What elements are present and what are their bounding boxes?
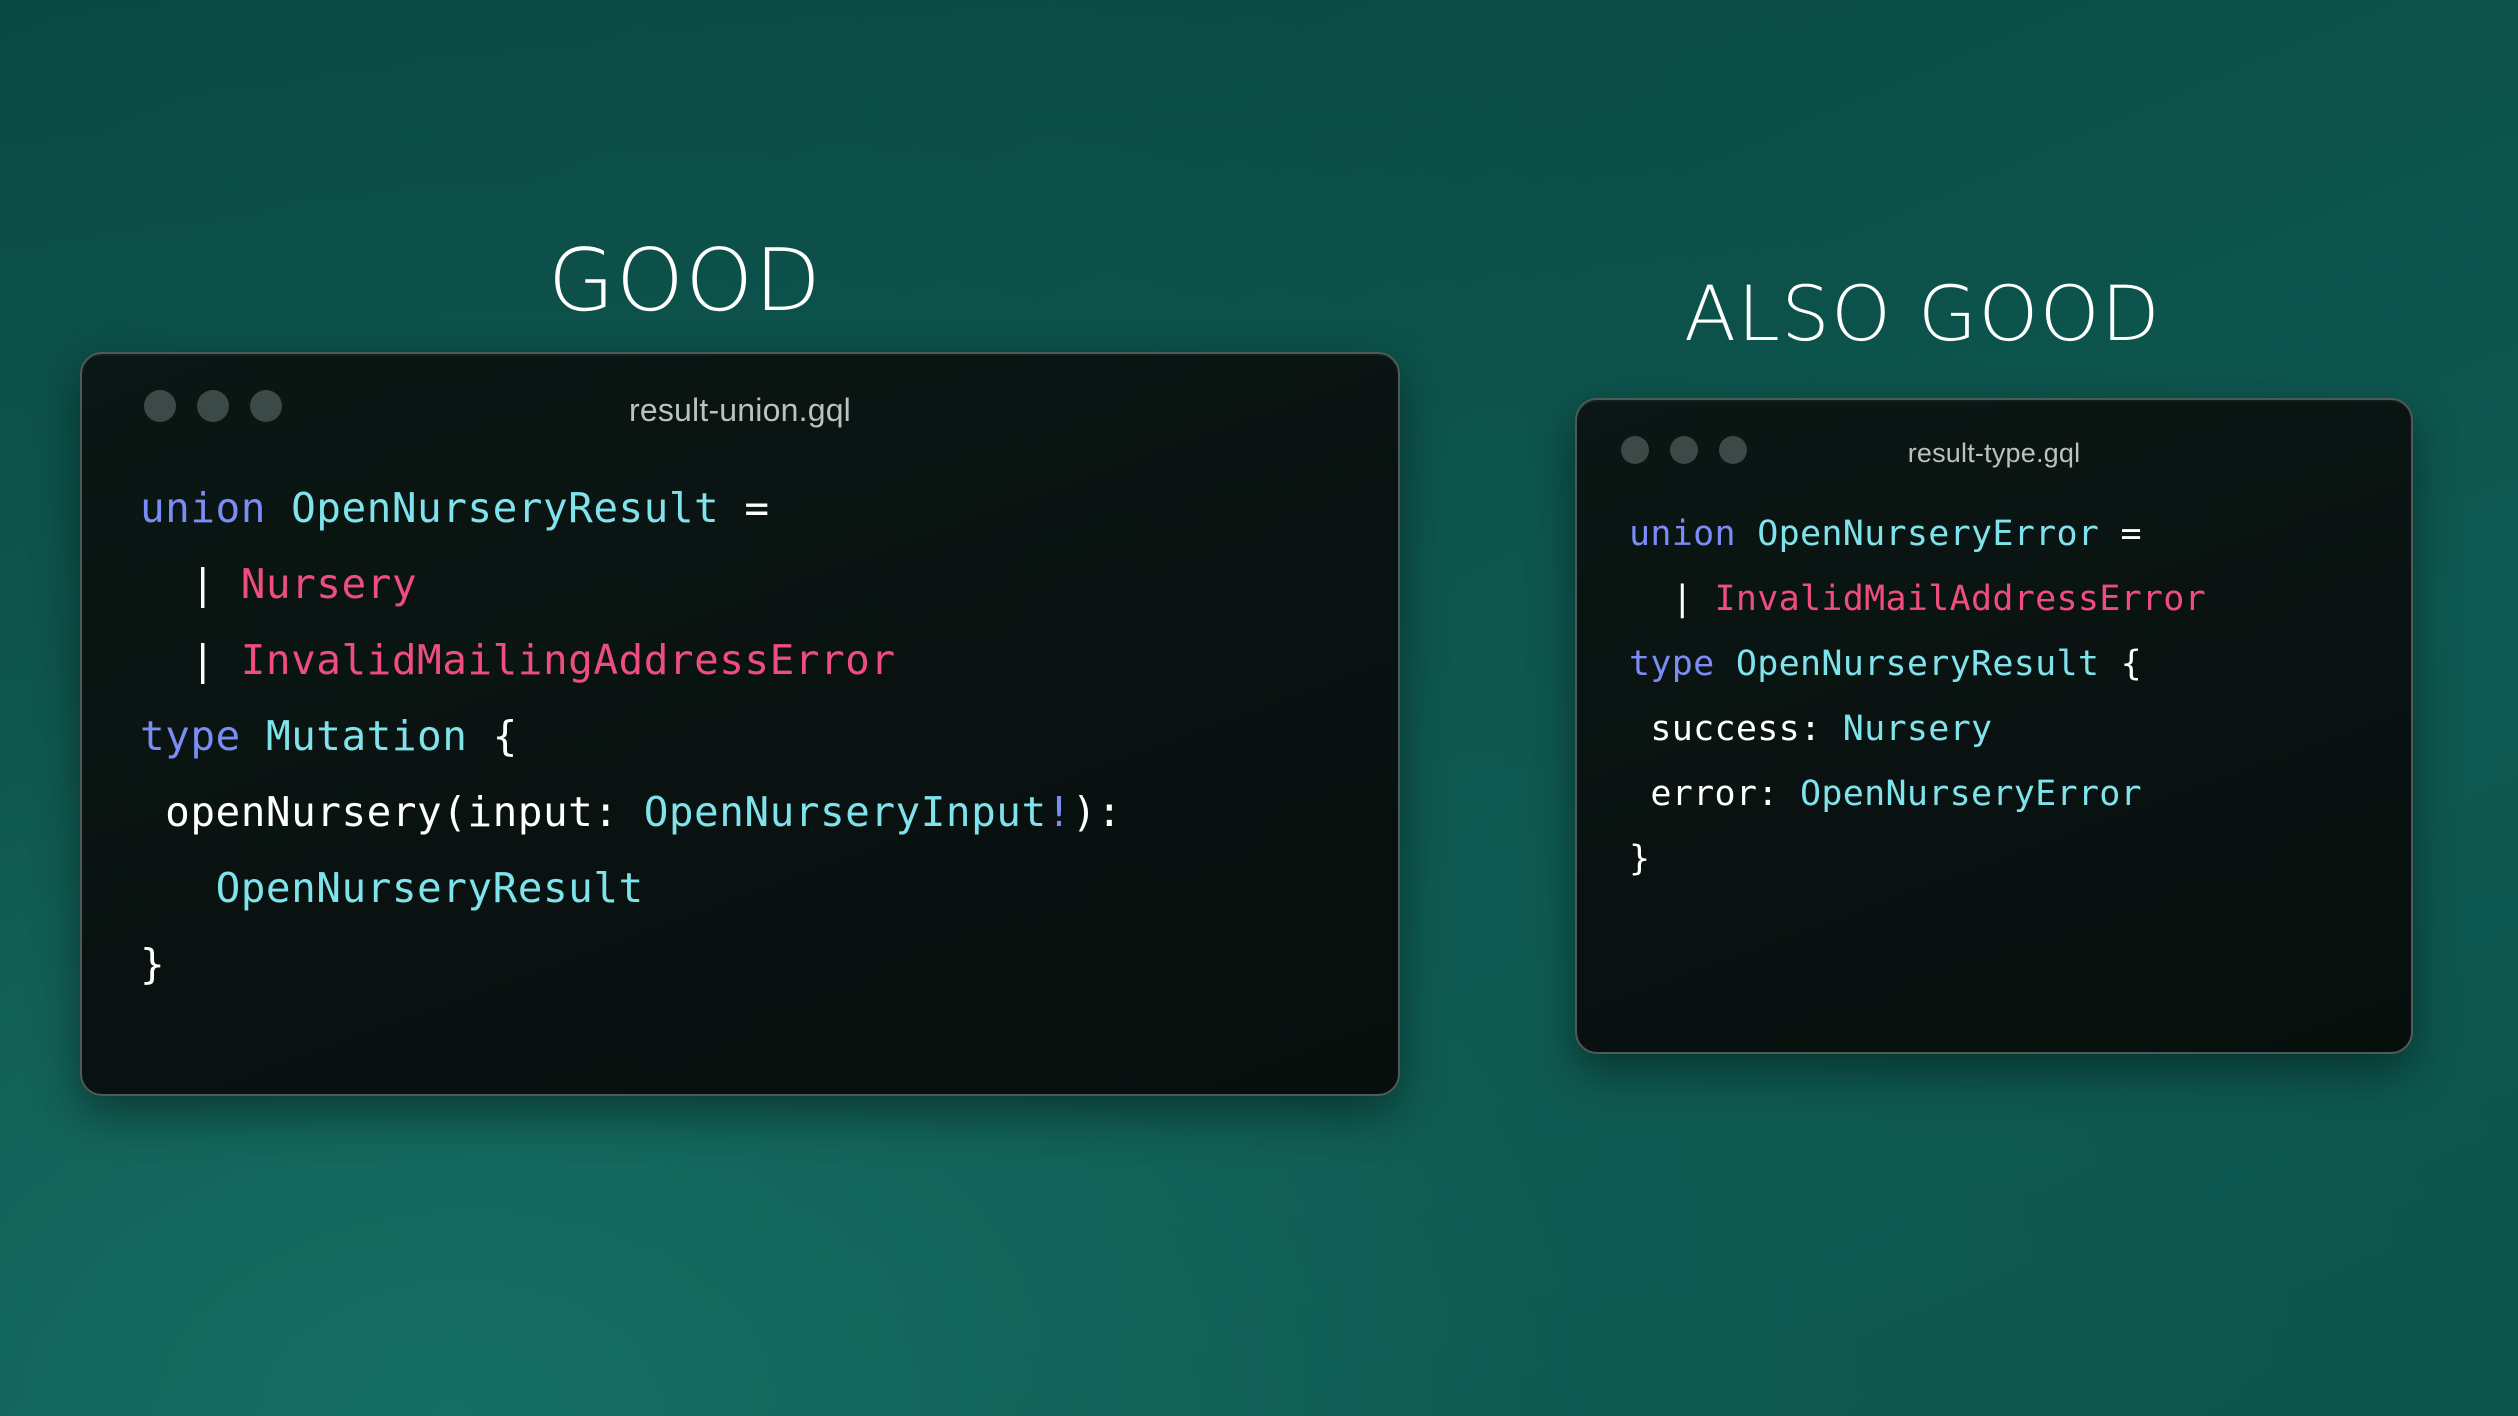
code-token-plain: |	[140, 636, 241, 684]
code-token-err: InvalidMailAddressError	[1715, 579, 2207, 619]
code-line: openNursery(input: OpenNurseryInput!):	[140, 774, 1398, 850]
code-token-type: OpenNurseryInput	[644, 788, 1047, 836]
code-token-type: OpenNurseryResult	[216, 864, 644, 912]
code-card-good: result-union.gql union OpenNurseryResult…	[80, 352, 1400, 1096]
code-token-plain: success:	[1629, 709, 1843, 749]
code-token-plain	[241, 712, 266, 760]
card-titlebar: result-union.gql	[82, 354, 1398, 444]
code-token-plain: |	[140, 560, 241, 608]
code-token-plain: ):	[1072, 788, 1122, 836]
code-line: type OpenNurseryResult {	[1629, 632, 2411, 697]
code-token-plain	[1715, 644, 1736, 684]
code-line: | InvalidMailAddressError	[1629, 567, 2411, 632]
code-line: }	[1629, 827, 2411, 892]
code-token-type: Nursery	[1843, 709, 1993, 749]
code-token-plain: {	[467, 712, 517, 760]
code-token-plain	[266, 484, 291, 532]
code-line: union OpenNurseryResult =	[140, 470, 1398, 546]
code-token-type: OpenNurseryError	[1800, 774, 2142, 814]
slide-canvas: GOOD result-union.gql union OpenNurseryR…	[0, 0, 2518, 1416]
code-token-plain: error:	[1629, 774, 1800, 814]
panel-heading-also-good: ALSO GOOD	[1684, 276, 2161, 352]
code-token-plain	[140, 864, 216, 912]
code-token-type: OpenNurseryResult	[1736, 644, 2099, 684]
filename-label: result-type.gql	[1577, 438, 2411, 469]
code-token-err: Nursery	[241, 560, 417, 608]
code-token-plain: =	[2099, 514, 2142, 554]
code-token-type: OpenNurseryResult	[291, 484, 719, 532]
code-block-also-good: union OpenNurseryError = | InvalidMailAd…	[1577, 486, 2411, 892]
code-token-plain: |	[1629, 579, 1715, 619]
code-card-also-good: result-type.gql union OpenNurseryError =…	[1575, 398, 2413, 1054]
code-token-kw: type	[140, 712, 241, 760]
code-token-type: OpenNurseryError	[1757, 514, 2099, 554]
code-line: | Nursery	[140, 546, 1398, 622]
filename-label: result-union.gql	[82, 392, 1398, 429]
code-token-err: InvalidMailingAddressError	[241, 636, 896, 684]
code-line: OpenNurseryResult	[140, 850, 1398, 926]
card-titlebar: result-type.gql	[1577, 400, 2411, 486]
code-token-plain: openNursery(input:	[140, 788, 644, 836]
code-token-plain: }	[140, 940, 165, 988]
code-line: success: Nursery	[1629, 697, 2411, 762]
code-token-kw: union	[140, 484, 266, 532]
code-block-good: union OpenNurseryResult = | Nursery | In…	[82, 444, 1398, 1002]
code-line: type Mutation {	[140, 698, 1398, 774]
code-line: union OpenNurseryError =	[1629, 502, 2411, 567]
code-token-kw: union	[1629, 514, 1736, 554]
code-token-plain: {	[2099, 644, 2142, 684]
code-token-type: Mutation	[266, 712, 467, 760]
code-token-plain	[1736, 514, 1757, 554]
code-line: error: OpenNurseryError	[1629, 762, 2411, 827]
code-line: | InvalidMailingAddressError	[140, 622, 1398, 698]
code-token-plain: =	[719, 484, 769, 532]
code-line: }	[140, 926, 1398, 1002]
code-token-kw: type	[1629, 644, 1715, 684]
code-token-plain: }	[1629, 839, 1650, 879]
code-token-bang: !	[1047, 788, 1072, 836]
panel-heading-good: GOOD	[548, 238, 822, 324]
